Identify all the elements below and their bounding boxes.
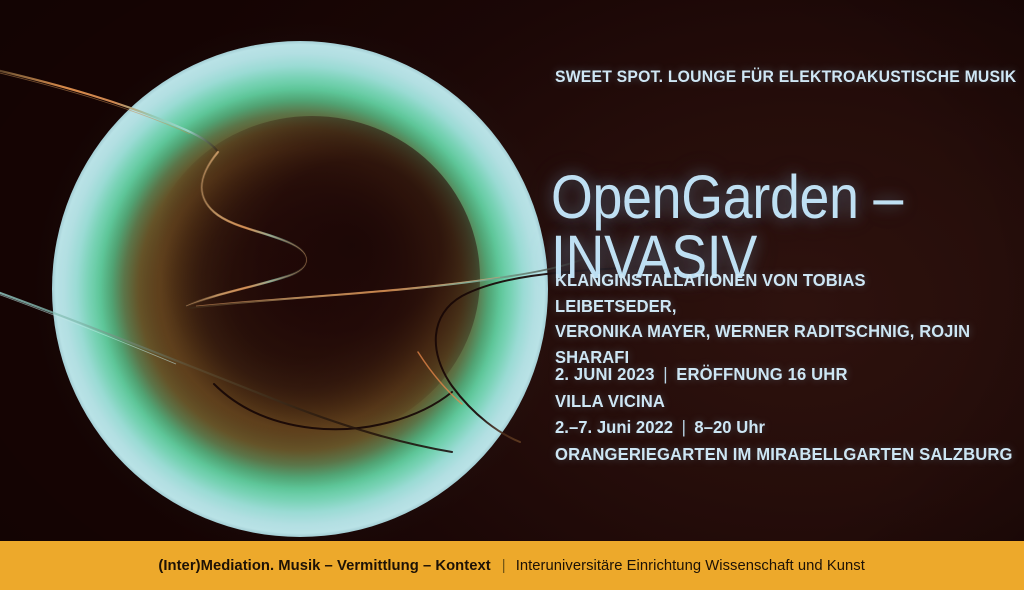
artwork-torus xyxy=(0,0,620,545)
footer-separator: | xyxy=(495,557,512,574)
footer-institution: Interuniversitäre Einrichtung Wissenscha… xyxy=(516,557,865,574)
event-1-date: 2. JUNI 2023 xyxy=(555,364,655,384)
event-2-separator: | xyxy=(678,414,690,441)
torus-graphic xyxy=(0,0,620,545)
event-2-datetime: 2.–7. Juni 2022 | 8–20 Uhr xyxy=(555,414,1013,441)
poster-canvas: SWEET SPOT. LOUNGE FÜR ELEKTROAKUSTISCHE… xyxy=(0,0,1024,590)
event-1-venue: VILLA VICINA xyxy=(555,388,1013,415)
poster-text-column: SWEET SPOT. LOUNGE FÜR ELEKTROAKUSTISCHE… xyxy=(555,0,1015,541)
event-2-date: 2.–7. Juni 2022 xyxy=(555,417,673,437)
event-1-separator: | xyxy=(659,361,671,388)
footer-program-name: (Inter)Mediation. Musik – Vermittlung – … xyxy=(159,557,491,574)
footer-bar: (Inter)Mediation. Musik – Vermittlung – … xyxy=(0,541,1024,590)
event-1-datetime: 2. JUNI 2023 | ERÖFFNUNG 16 UHR xyxy=(555,361,1013,388)
footer-content: (Inter)Mediation. Musik – Vermittlung – … xyxy=(159,557,865,574)
event-details: 2. JUNI 2023 | ERÖFFNUNG 16 UHR VILLA VI… xyxy=(555,361,1013,467)
torus-core xyxy=(144,116,480,440)
event-2-venue: ORANGERIEGARTEN IM MIRABELLGARTEN SALZBU… xyxy=(555,441,1013,468)
event-2-time: 8–20 Uhr xyxy=(694,417,765,437)
event-1-time: ERÖFFNUNG 16 UHR xyxy=(676,364,847,384)
poster-kicker: SWEET SPOT. LOUNGE FÜR ELEKTROAKUSTISCHE… xyxy=(555,68,1016,87)
artists-credit: KLANGINSTALLATIONEN VON TOBIAS LEIBETSED… xyxy=(555,268,990,370)
